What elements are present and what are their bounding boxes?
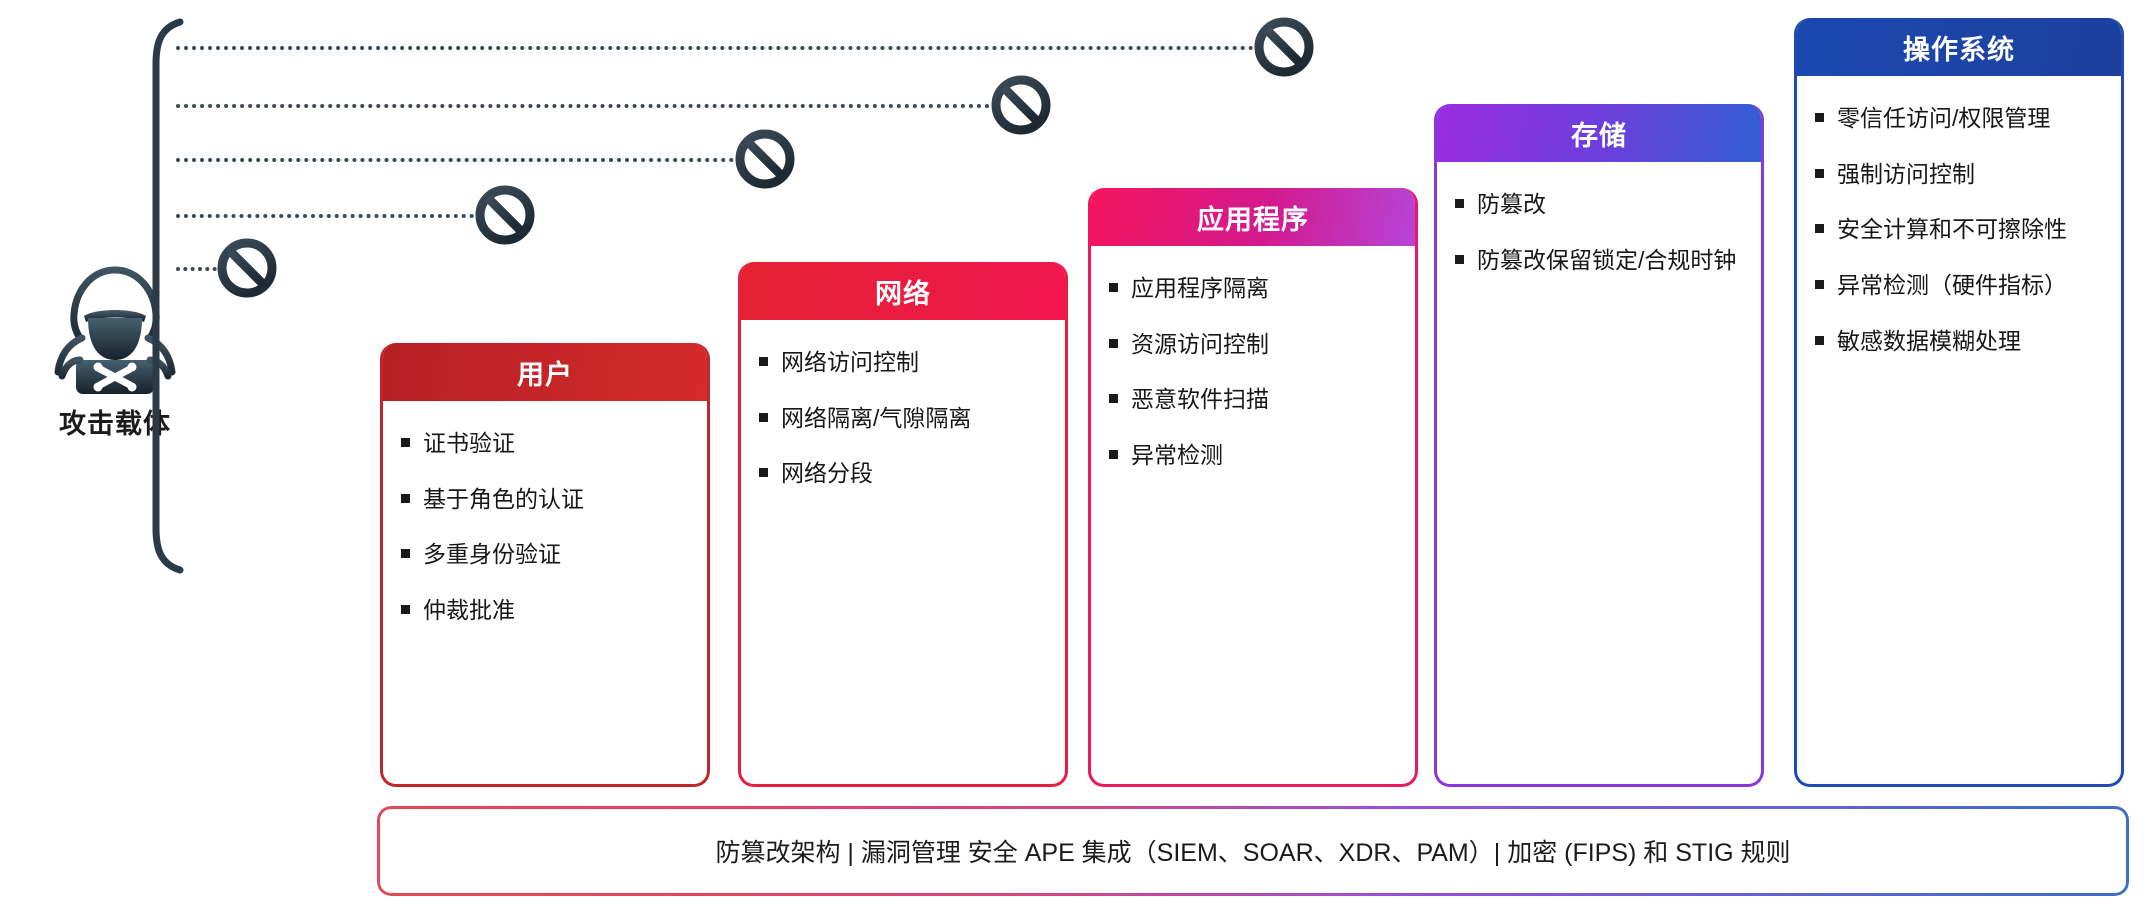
- list-item: 网络分段: [759, 457, 1049, 490]
- list-item: 异常检测（硬件指标）: [1815, 269, 2105, 302]
- bullet-square-icon: [401, 438, 410, 447]
- bullet-square-icon: [759, 468, 768, 477]
- list-item: 网络访问控制: [759, 346, 1049, 379]
- bullet-square-icon: [1109, 339, 1118, 348]
- attack-line-app: [176, 158, 742, 162]
- layer-card-body: 防篡改 防篡改保留锁定/合规时钟: [1437, 162, 1761, 309]
- attack-line-storage: [176, 104, 998, 108]
- layer-card-body: 网络访问控制 网络隔离/气隙隔离 网络分段: [741, 320, 1065, 523]
- list-item: 防篡改保留锁定/合规时钟: [1455, 244, 1745, 277]
- bullet-square-icon: [1815, 169, 1824, 178]
- list-item: 基于角色的认证: [401, 483, 691, 516]
- layer-card-user[interactable]: 用户 证书验证 基于角色的认证 多重身份验证 仲裁批准: [380, 343, 710, 787]
- bullet-square-icon: [1815, 336, 1824, 345]
- attack-line-os: [176, 46, 1262, 50]
- bullet-square-icon: [1815, 280, 1824, 289]
- bullet-square-icon: [759, 357, 768, 366]
- bullet-square-icon: [401, 549, 410, 558]
- banner-label: 防篡改架构 | 漏洞管理 安全 APE 集成（SIEM、SOAR、XDR、PAM…: [715, 833, 1790, 869]
- bullet-square-icon: [1109, 394, 1118, 403]
- layer-title: 网络: [875, 272, 931, 311]
- list-item: 强制访问控制: [1815, 158, 2105, 191]
- list-item: 证书验证: [401, 427, 691, 460]
- no-entry-icon: [216, 237, 278, 299]
- bullet-square-icon: [401, 605, 410, 614]
- bullet-square-icon: [1109, 283, 1118, 292]
- layer-card-header: 用户: [380, 343, 710, 401]
- list-item: 应用程序隔离: [1109, 272, 1399, 305]
- no-entry-icon: [1253, 16, 1315, 78]
- layer-card-body: 证书验证 基于角色的认证 多重身份验证 仲裁批准: [383, 401, 707, 660]
- no-entry-icon: [734, 128, 796, 190]
- bullet-square-icon: [1455, 255, 1464, 264]
- layer-title: 存储: [1571, 114, 1627, 153]
- attack-line-network: [176, 214, 482, 218]
- list-item: 资源访问控制: [1109, 328, 1399, 361]
- layer-title: 应用程序: [1197, 198, 1309, 237]
- no-entry-icon: [474, 184, 536, 246]
- layer-card-operating-system[interactable]: 操作系统 零信任访问/权限管理 强制访问控制 安全计算和不可擦除性 异常检测（硬…: [1794, 18, 2124, 787]
- layer-card-body: 应用程序隔离 资源访问控制 恶意软件扫描 异常检测: [1091, 246, 1415, 505]
- no-entry-icon: [990, 74, 1052, 136]
- layer-card-header: 存储: [1434, 104, 1764, 162]
- layer-title: 用户: [517, 353, 573, 392]
- layer-card-body: 零信任访问/权限管理 强制访问控制 安全计算和不可擦除性 异常检测（硬件指标） …: [1797, 76, 2121, 390]
- foundation-banner: 防篡改架构 | 漏洞管理 安全 APE 集成（SIEM、SOAR、XDR、PAM…: [377, 806, 2129, 896]
- list-item: 恶意软件扫描: [1109, 383, 1399, 416]
- bullet-square-icon: [1815, 113, 1824, 122]
- list-item: 异常检测: [1109, 439, 1399, 472]
- left-brace-icon: [140, 18, 186, 574]
- list-item: 网络隔离/气隙隔离: [759, 402, 1049, 435]
- list-item: 敏感数据模糊处理: [1815, 325, 2105, 358]
- bullet-square-icon: [1815, 224, 1824, 233]
- list-item: 仲裁批准: [401, 594, 691, 627]
- layer-card-header: 操作系统: [1794, 18, 2124, 76]
- list-item: 零信任访问/权限管理: [1815, 102, 2105, 135]
- layer-card-storage[interactable]: 存储 防篡改 防篡改保留锁定/合规时钟: [1434, 104, 1764, 787]
- bullet-square-icon: [401, 494, 410, 503]
- list-item: 防篡改: [1455, 188, 1745, 221]
- bullet-square-icon: [759, 413, 768, 422]
- list-item: 多重身份验证: [401, 538, 691, 571]
- layer-card-header: 网络: [738, 262, 1068, 320]
- bullet-square-icon: [1455, 199, 1464, 208]
- diagram-canvas: 攻击载体 用户 证书验证: [0, 0, 2146, 916]
- list-item: 安全计算和不可擦除性: [1815, 213, 2105, 246]
- layer-card-network[interactable]: 网络 网络访问控制 网络隔离/气隙隔离 网络分段: [738, 262, 1068, 787]
- layer-card-application[interactable]: 应用程序 应用程序隔离 资源访问控制 恶意软件扫描 异常检测: [1088, 188, 1418, 787]
- layer-card-header: 应用程序: [1088, 188, 1418, 246]
- bullet-square-icon: [1109, 450, 1118, 459]
- layer-title: 操作系统: [1903, 28, 2015, 67]
